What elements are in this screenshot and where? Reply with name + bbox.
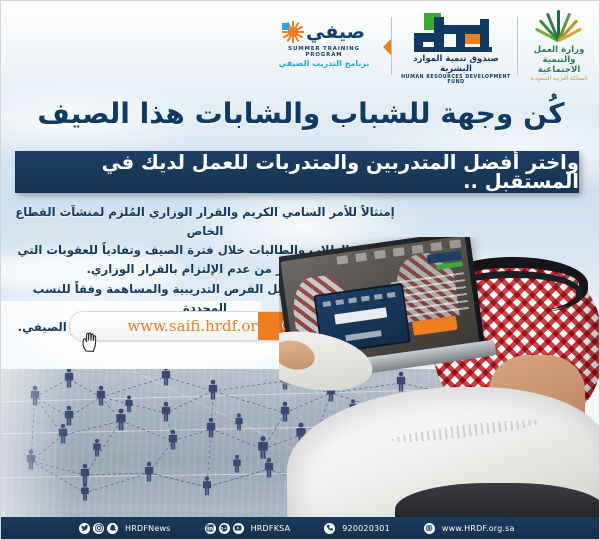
logo-hrdf: صندوق تنمية الموارد البشرية HUMAN RESOUR… xyxy=(397,13,515,81)
hrdf-arabic-name: صندوق تنمية الموارد البشرية xyxy=(397,54,515,74)
phone-icon[interactable] xyxy=(324,523,335,534)
footer-handle-news: HRDFNews xyxy=(125,524,171,533)
ministry-line-3: المملكة العربية السعودية xyxy=(521,76,597,82)
paragraph-line: إمتثالاً للأمر السامي الكريم والقرار الو… xyxy=(15,203,395,241)
logo-divider xyxy=(517,17,518,75)
footer-website: www.HRDF.org.sa xyxy=(442,524,515,533)
svg-text:g+: g+ xyxy=(221,526,228,532)
subheadline-text: واختر أفضل المتدربين والمتدربات للعمل لد… xyxy=(15,153,579,192)
palm-icon xyxy=(531,11,587,43)
ministry-line-2: والتنمية الاجتماعية xyxy=(521,55,597,75)
logo-ministry: وزارة العمل والتنمية الاجتماعية المملكة … xyxy=(521,11,597,85)
ministry-line-1: وزارة العمل xyxy=(521,45,597,55)
poster-root: صيفي SUMMER TRAINING PROGRAM برنامج التد… xyxy=(0,0,600,540)
chevron-left-icon xyxy=(383,39,391,55)
sun-icon xyxy=(283,22,303,42)
twitter-icon[interactable] xyxy=(79,523,90,534)
saifi-english-name: SUMMER TRAINING PROGRAM xyxy=(269,46,379,58)
footer-group-news[interactable]: HRDFNews xyxy=(79,523,171,534)
logo-saifi: صيفي SUMMER TRAINING PROGRAM برنامج التد… xyxy=(269,19,379,79)
footer-bar: HRDFNews g+ HRDFKSA 920020301 xyxy=(1,517,600,539)
footer-phone-number: 920020301 xyxy=(342,524,390,533)
hrdf-english-name: HUMAN RESOURCES DEVELOPMENT FUND xyxy=(397,75,515,85)
footer-handle-ksa: HRDFKSA xyxy=(251,524,291,533)
hand-cursor-icon xyxy=(81,331,99,353)
hrdf-mark-icon xyxy=(406,13,506,53)
logo-row: صيفي SUMMER TRAINING PROGRAM برنامج التد… xyxy=(1,5,600,87)
snapchat-icon[interactable] xyxy=(107,523,118,534)
saifi-arabic-name: صيفي xyxy=(306,23,365,42)
headline: كُن وجهة للشباب والشابات هذا الصيف xyxy=(1,99,600,130)
footer-group-phone[interactable]: 920020301 xyxy=(324,523,390,534)
globe-icon[interactable] xyxy=(424,523,435,534)
subheadline-band: واختر أفضل المتدربين والمتدربات للعمل لد… xyxy=(15,151,579,193)
googleplus-icon[interactable]: g+ xyxy=(219,523,230,534)
youtube-icon[interactable] xyxy=(233,523,244,534)
saifi-lockup: صيفي xyxy=(269,19,379,45)
saifi-arabic-subtitle: برنامج التدريب الصيفي xyxy=(269,59,379,68)
instagram-icon[interactable] xyxy=(93,523,104,534)
footer-group-website[interactable]: www.HRDF.org.sa xyxy=(424,523,515,534)
logo-divider xyxy=(391,17,392,75)
ground-left-fade xyxy=(1,369,71,521)
footer-group-ksa[interactable]: g+ HRDFKSA xyxy=(205,523,291,534)
linkedin-icon[interactable] xyxy=(205,523,216,534)
photo-man-with-laptop xyxy=(279,237,599,525)
